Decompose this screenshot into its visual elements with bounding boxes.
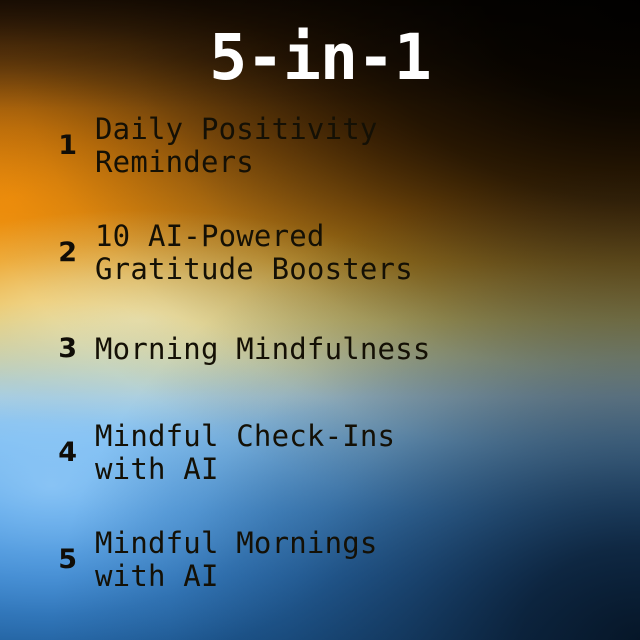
promo-poster: 5-in-1 1 Daily Positivity Reminders 2 10…: [0, 0, 640, 640]
feature-number: 1: [0, 131, 95, 161]
feature-item-5: 5 Mindful Mornings with AI: [0, 525, 640, 595]
feature-number: 4: [0, 438, 95, 468]
feature-item-2: 2 10 AI-Powered Gratitude Boosters: [0, 218, 640, 288]
poster-title: 5-in-1: [0, 22, 640, 94]
feature-item-4: 4 Mindful Check-Ins with AI: [0, 418, 640, 488]
feature-number: 2: [0, 238, 95, 268]
feature-item-3: 3 Morning Mindfulness: [0, 329, 640, 369]
feature-number: 3: [0, 334, 95, 364]
feature-label: Morning Mindfulness: [95, 333, 640, 366]
feature-number: 5: [0, 545, 95, 575]
feature-list: 1 Daily Positivity Reminders 2 10 AI-Pow…: [0, 108, 640, 618]
feature-item-1: 1 Daily Positivity Reminders: [0, 111, 640, 181]
feature-label: Mindful Mornings with AI: [95, 527, 640, 593]
feature-label: 10 AI-Powered Gratitude Boosters: [95, 220, 640, 286]
feature-label: Daily Positivity Reminders: [95, 113, 640, 179]
feature-label: Mindful Check-Ins with AI: [95, 420, 640, 486]
poster-content: 5-in-1 1 Daily Positivity Reminders 2 10…: [0, 0, 640, 640]
